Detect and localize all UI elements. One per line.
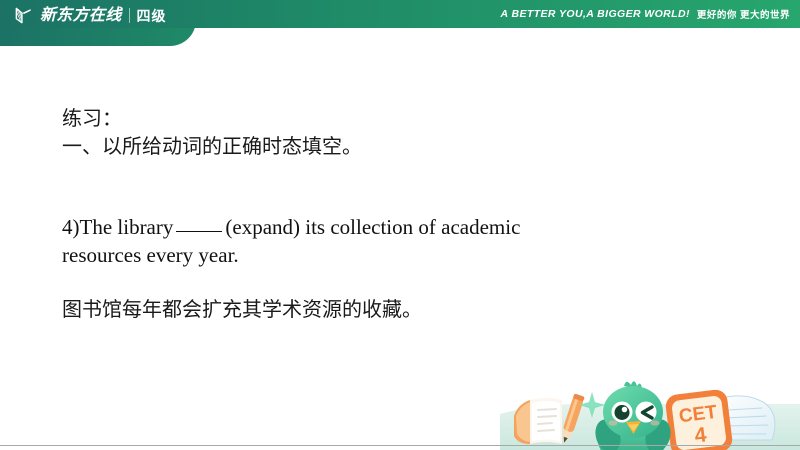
slogan-chinese: 更好的你 更大的世界	[697, 7, 790, 21]
bird-mascot	[591, 381, 674, 450]
question-sentence: 4)The library(expand) its collection of …	[62, 213, 602, 270]
slide-content: 练习： 一、以所给动词的正确时态填空。 4)The library(expand…	[62, 104, 682, 323]
question-translation: 图书馆每年都会扩充其学术资源的收藏。	[62, 295, 682, 323]
brand-divider	[129, 8, 130, 23]
question-text-before-blank: The library	[80, 215, 174, 239]
answer-blank[interactable]	[176, 231, 222, 232]
cet-card: CET 4	[664, 388, 733, 450]
open-book-icon	[514, 398, 562, 444]
exercise-label: 练习：	[62, 104, 682, 132]
question-number: 4)	[62, 215, 80, 239]
content-spacer	[62, 161, 682, 213]
brand-name: 新东方在线	[40, 8, 122, 24]
exercise-instruction: 一、以所给动词的正确时态填空。	[62, 132, 682, 160]
brand-logo[interactable]: 新东方在线 四级	[14, 6, 167, 25]
pen-nib-icon	[14, 6, 33, 25]
slogan-english: A BETTER YOU,A BIGGER WORLD!	[501, 8, 690, 20]
header-slogan: A BETTER YOU,A BIGGER WORLD! 更好的你 更大的世界	[501, 0, 790, 28]
mascot-illustration: CET 4	[500, 374, 800, 450]
footer-divider	[0, 445, 800, 446]
exam-level-label: 四级	[137, 9, 167, 23]
